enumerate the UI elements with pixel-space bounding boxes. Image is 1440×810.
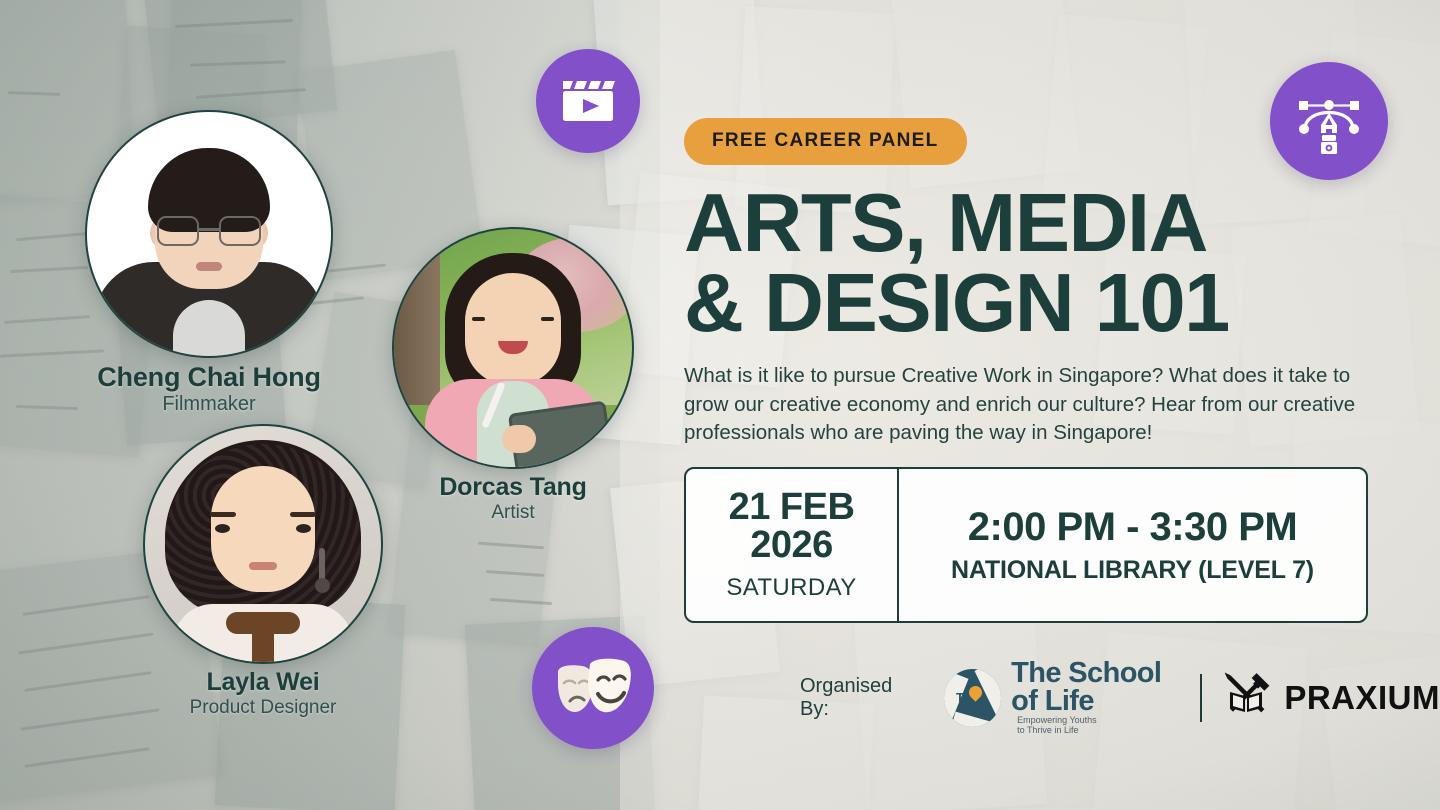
praxium-book-tools-icon [1220, 672, 1272, 723]
praxium-logo: PRAXIUM [1220, 672, 1440, 723]
speaker-role: Artist [392, 502, 634, 524]
event-date-line-1: 21 FEB [729, 488, 855, 526]
speaker-role: Product Designer [143, 697, 383, 719]
event-time: 2:00 PM - 3:30 PM [968, 505, 1297, 550]
speaker-role: Filmmaker [85, 393, 333, 416]
event-date-block: 21 FEB 2026 SATURDAY [686, 469, 899, 621]
description-text: What is it like to pursue Creative Work … [684, 362, 1384, 447]
the-school-of-life-logo: TSOL The School of Life Empowering Youth… [944, 660, 1183, 735]
speaker-name: Layla Wei [143, 668, 383, 697]
logo-divider [1200, 674, 1202, 722]
speaker-name: Dorcas Tang [392, 473, 634, 502]
speaker-card-cheng-chai-hong: Cheng Chai Hong Filmmaker [85, 110, 333, 416]
event-venue: NATIONAL LIBRARY (LEVEL 7) [951, 556, 1314, 585]
speaker-card-dorcas-tang: Dorcas Tang Artist [392, 227, 634, 524]
tsol-tagline: Empowering Youths to Thrive in Life [1017, 715, 1097, 735]
tsol-tagline-line-2: to Thrive in Life [1017, 725, 1078, 735]
tsol-word-2: of Life [1011, 685, 1094, 717]
avatar [85, 110, 333, 358]
headline-line-2: & DESIGN 101 [684, 263, 1384, 343]
tsol-mark-icon: TSOL [944, 669, 1001, 727]
page-title: ARTS, MEDIA & DESIGN 101 [684, 183, 1384, 342]
event-date: 21 FEB 2026 [729, 488, 855, 564]
tsol-word-1: The School [1011, 660, 1182, 688]
event-details-box: 21 FEB 2026 SATURDAY 2:00 PM - 3:30 PM N… [684, 467, 1368, 623]
tsol-tagline-line-1: Empowering Youths [1017, 715, 1097, 725]
speaker-name: Cheng Chai Hong [85, 362, 333, 393]
praxium-wordmark: PRAXIUM [1284, 679, 1440, 717]
avatar [143, 424, 383, 664]
film-clapperboard-icon [536, 49, 640, 153]
event-poster: Cheng Chai Hong Filmmaker Dorcas Tang [0, 0, 1440, 810]
event-time-venue-block: 2:00 PM - 3:30 PM NATIONAL LIBRARY (LEVE… [899, 469, 1366, 621]
portrait-cheng-chai-hong [87, 112, 331, 356]
footer-organisers: Organised By: TSOL The School of Life Em… [800, 660, 1440, 735]
event-date-line-2: 2026 [729, 526, 855, 564]
poster-content: FREE CAREER PANEL ARTS, MEDIA & DESIGN 1… [684, 118, 1384, 623]
speaker-card-layla-wei: Layla Wei Product Designer [143, 424, 383, 719]
portrait-dorcas-tang [394, 229, 632, 467]
avatar [392, 227, 634, 469]
organised-by-label: Organised By: [800, 675, 926, 721]
tsol-wordmark: The School of Life Empowering Youths to … [1011, 660, 1182, 735]
event-day: SATURDAY [726, 574, 856, 602]
portrait-layla-wei [145, 426, 381, 662]
theater-masks-icon [532, 627, 654, 749]
free-career-panel-badge: FREE CAREER PANEL [684, 118, 967, 165]
